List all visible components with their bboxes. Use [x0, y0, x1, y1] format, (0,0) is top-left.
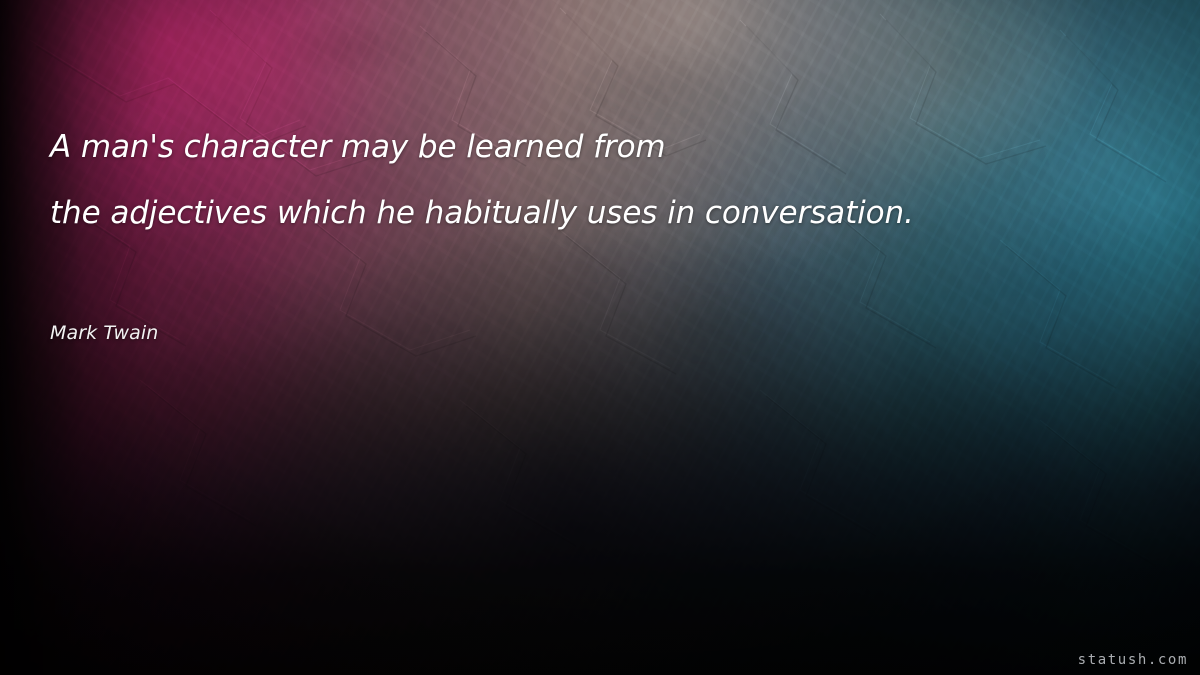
watermark-statush: statush.com — [1078, 652, 1188, 668]
quote-line-2: the adjectives which he habitually uses … — [50, 180, 1130, 246]
content-layer: A man's character may be learned from th… — [0, 0, 1200, 675]
author-name: Mark Twain — [50, 320, 158, 346]
quote-image-canvas: A man's character may be learned from th… — [0, 0, 1200, 675]
quote-block: A man's character may be learned from th… — [50, 114, 1130, 246]
quote-line-1: A man's character may be learned from — [50, 114, 1130, 180]
